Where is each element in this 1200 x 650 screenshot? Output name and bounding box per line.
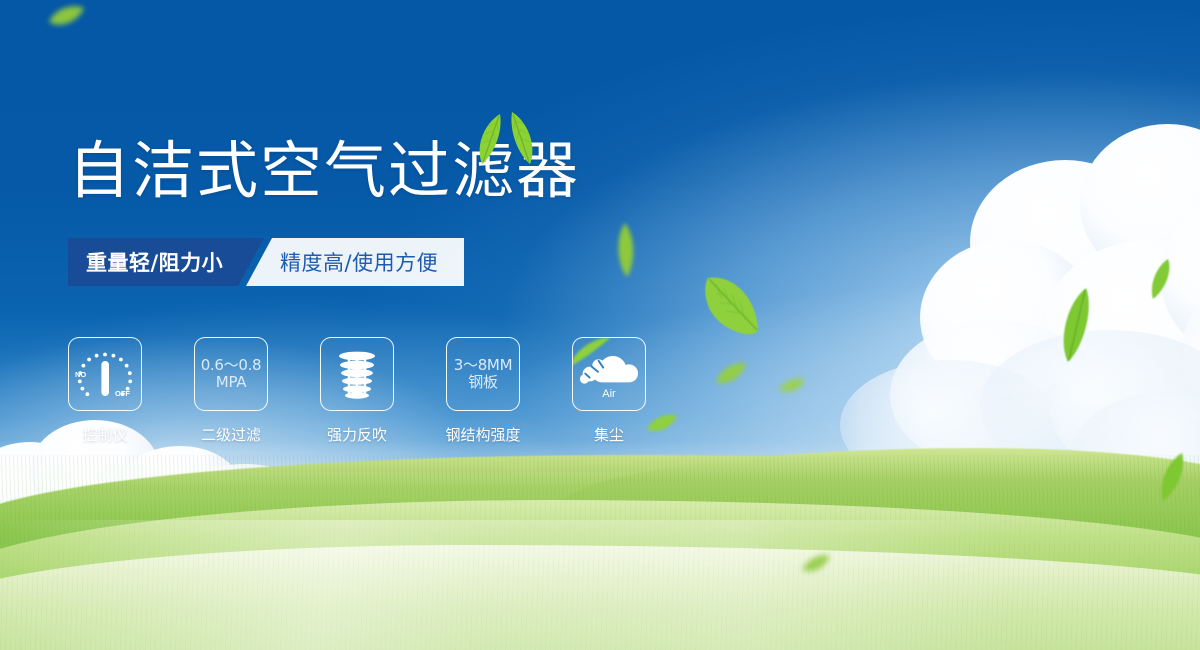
feature-icon-box: 0.6～0.8 MPA (194, 337, 268, 411)
cloud-air-label: Air (602, 388, 616, 400)
subtitle-right-text: 精度高/使用方便 (280, 247, 438, 277)
feature-label: 二级过滤 (201, 424, 261, 445)
steel-material: 钢板 (454, 374, 512, 391)
grass-foreground (0, 545, 1200, 650)
feature-item-pressure[interactable]: 0.6～0.8 MPA 二级过滤 (194, 337, 268, 445)
filter-stack-icon (329, 346, 385, 402)
feature-label: 强力反吹 (327, 424, 387, 445)
subtitle-left-segment: 重量轻/阻力小 (68, 238, 264, 286)
feature-label: 控制仪 (82, 424, 127, 445)
feature-item-backblow[interactable]: 强力反吹 (320, 337, 394, 445)
pressure-unit: MPA (201, 374, 262, 391)
gauge-label-no: NO (75, 370, 86, 379)
feature-icon-box: NO OFF (68, 337, 142, 411)
feature-list: NO OFF 控制仪 0.6～0.8 MPA 二级过滤 (68, 337, 646, 445)
steel-thickness: 3～8MM (454, 357, 512, 374)
feature-label: 钢结构强度 (446, 424, 521, 445)
steel-plate-icon: 3～8MM 钢板 (454, 357, 512, 392)
feature-item-control-gauge[interactable]: NO OFF 控制仪 (68, 337, 142, 445)
pressure-icon: 0.6～0.8 MPA (201, 357, 262, 392)
feature-item-steel-plate[interactable]: 3～8MM 钢板 钢结构强度 (446, 337, 520, 445)
feature-icon-box: 3～8MM 钢板 (446, 337, 520, 411)
promo-banner: 自洁式空气过滤器 重量轻/阻力小 精度高/使用方便 (0, 0, 1200, 650)
feature-label: 集尘 (594, 424, 624, 445)
feature-item-dust-collection[interactable]: Air 集尘 (572, 337, 646, 445)
cloud-air-icon: Air (578, 346, 640, 402)
subtitle-right-segment: 精度高/使用方便 (246, 238, 464, 286)
feature-icon-box (320, 337, 394, 411)
gauge-label-off: OFF (115, 389, 130, 398)
page-title: 自洁式空气过滤器 (68, 140, 580, 202)
gauge-icon: NO OFF (73, 344, 137, 404)
subtitle-left-text: 重量轻/阻力小 (86, 247, 223, 277)
feature-icon-box: Air (572, 337, 646, 411)
subtitle-bar: 重量轻/阻力小 精度高/使用方便 (68, 238, 464, 286)
pressure-value: 0.6～0.8 (201, 357, 262, 374)
